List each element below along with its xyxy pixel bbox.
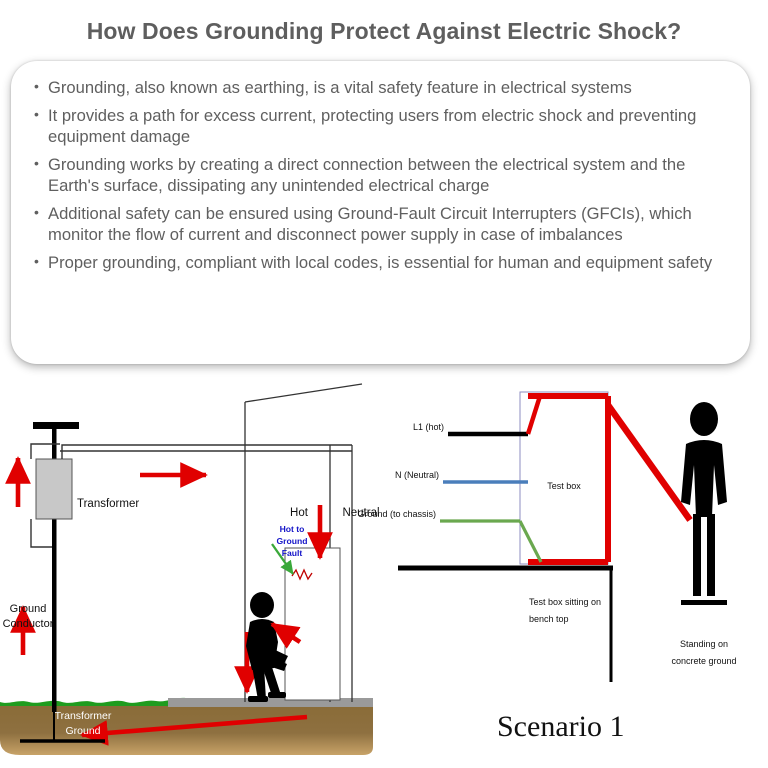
ground-conductor-label-line2: Conductor (3, 618, 54, 630)
bench-note-line2: bench top (529, 614, 569, 624)
fault-label-line2: Ground (276, 536, 307, 546)
test-box-label: Test box (547, 481, 581, 491)
transformer-ground-label-line2: Ground (65, 725, 100, 737)
fault-label-line1: Hot to (280, 524, 305, 534)
l1-label: L1 (hot) (413, 422, 444, 432)
transformer-ground-label-line1: Transformer (55, 710, 112, 722)
standing-note-line2: concrete ground (671, 656, 736, 666)
ground-conductor-label-line1: Ground (10, 603, 47, 615)
n-neutral-label: N (Neutral) (395, 470, 439, 480)
list-item: Additional safety can be ensured using G… (33, 203, 728, 245)
transformer (36, 459, 72, 519)
person-standing-icon (681, 402, 727, 605)
list-item: It provides a path for excess current, p… (33, 105, 728, 147)
bench-top (398, 568, 613, 682)
ground-chassis-label: Ground (to chassis) (357, 509, 436, 519)
list-item: Grounding works by creating a direct con… (33, 154, 728, 196)
shock-path-to-person (608, 405, 690, 520)
bench-note-line1: Test box sitting on (529, 597, 601, 607)
page-title: How Does Grounding Protect Against Elect… (0, 18, 768, 45)
scenario-caption: Scenario 1 (497, 710, 624, 743)
house-floor-slab (168, 698, 373, 707)
transformer-label: Transformer (77, 498, 139, 510)
list-item: Grounding, also known as earthing, is a … (33, 77, 728, 98)
list-item: Proper grounding, compliant with local c… (33, 252, 728, 273)
fault-label-line3: Fault (282, 548, 303, 558)
key-points-card: Grounding, also known as earthing, is a … (11, 61, 750, 364)
person-shocked-icon (246, 592, 288, 702)
standing-note-line1: Standing on (680, 639, 728, 649)
appliance-box (285, 548, 340, 700)
key-points-list: Grounding, also known as earthing, is a … (33, 77, 728, 273)
hot-label: Hot (290, 507, 309, 519)
illustration-area: Transformer (0, 372, 768, 768)
